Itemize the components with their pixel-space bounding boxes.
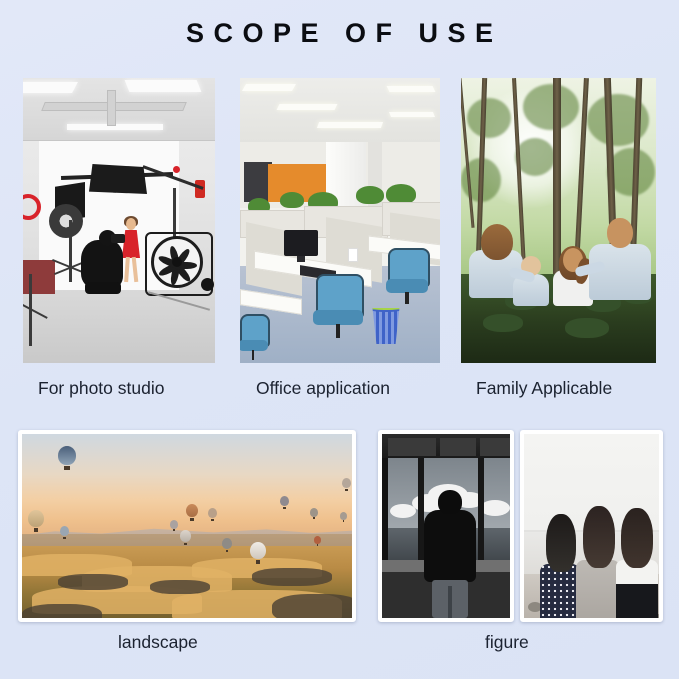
caption-family-applicable: Family Applicable	[476, 378, 612, 399]
figure-woman	[540, 514, 580, 618]
caption-figure: figure	[485, 632, 529, 653]
hot-air-balloon	[58, 446, 76, 470]
office-monitor	[284, 230, 318, 256]
family-scene	[461, 78, 656, 363]
caption-photo-studio: For photo studio	[38, 378, 164, 399]
hot-air-balloon	[28, 510, 44, 532]
landscape-scene	[22, 434, 352, 618]
image-office[interactable]	[240, 78, 440, 363]
figure-silhouette	[424, 490, 476, 618]
image-landscape[interactable]	[18, 430, 356, 622]
figure-women-scene	[524, 434, 659, 618]
hot-air-balloon	[310, 508, 318, 519]
office-chair	[388, 248, 426, 304]
caption-landscape: landscape	[118, 632, 198, 653]
hot-air-balloon	[60, 526, 69, 539]
office-scene	[240, 78, 440, 363]
hot-air-balloon	[340, 512, 347, 522]
hot-air-balloon	[222, 538, 232, 552]
image-figure-women[interactable]	[520, 430, 663, 622]
hot-air-balloon	[342, 478, 351, 491]
family-member	[589, 218, 651, 300]
page-title: SCOPE OF USE	[0, 18, 679, 49]
office-chair	[316, 274, 360, 338]
photo-studio-scene	[23, 78, 215, 363]
hot-air-balloon	[280, 496, 289, 509]
hot-air-balloon	[180, 530, 191, 545]
hot-air-balloon	[186, 504, 198, 521]
caption-office-application: Office application	[256, 378, 390, 399]
family-member	[553, 248, 593, 306]
office-chair	[240, 314, 266, 360]
studio-photographer	[81, 228, 127, 294]
hot-air-balloon	[250, 542, 266, 564]
figure-woman	[616, 508, 658, 618]
hot-air-balloon	[314, 536, 321, 546]
poster-background: SCOPE OF USE	[0, 0, 679, 679]
figure-window-scene	[382, 434, 510, 618]
image-figure-window[interactable]	[378, 430, 514, 622]
hot-air-balloon	[208, 508, 217, 521]
figure-woman	[576, 506, 620, 618]
studio-fan	[151, 236, 203, 288]
hot-air-balloon	[170, 520, 178, 531]
image-photo-studio[interactable]	[23, 78, 215, 363]
image-family[interactable]	[461, 78, 656, 363]
